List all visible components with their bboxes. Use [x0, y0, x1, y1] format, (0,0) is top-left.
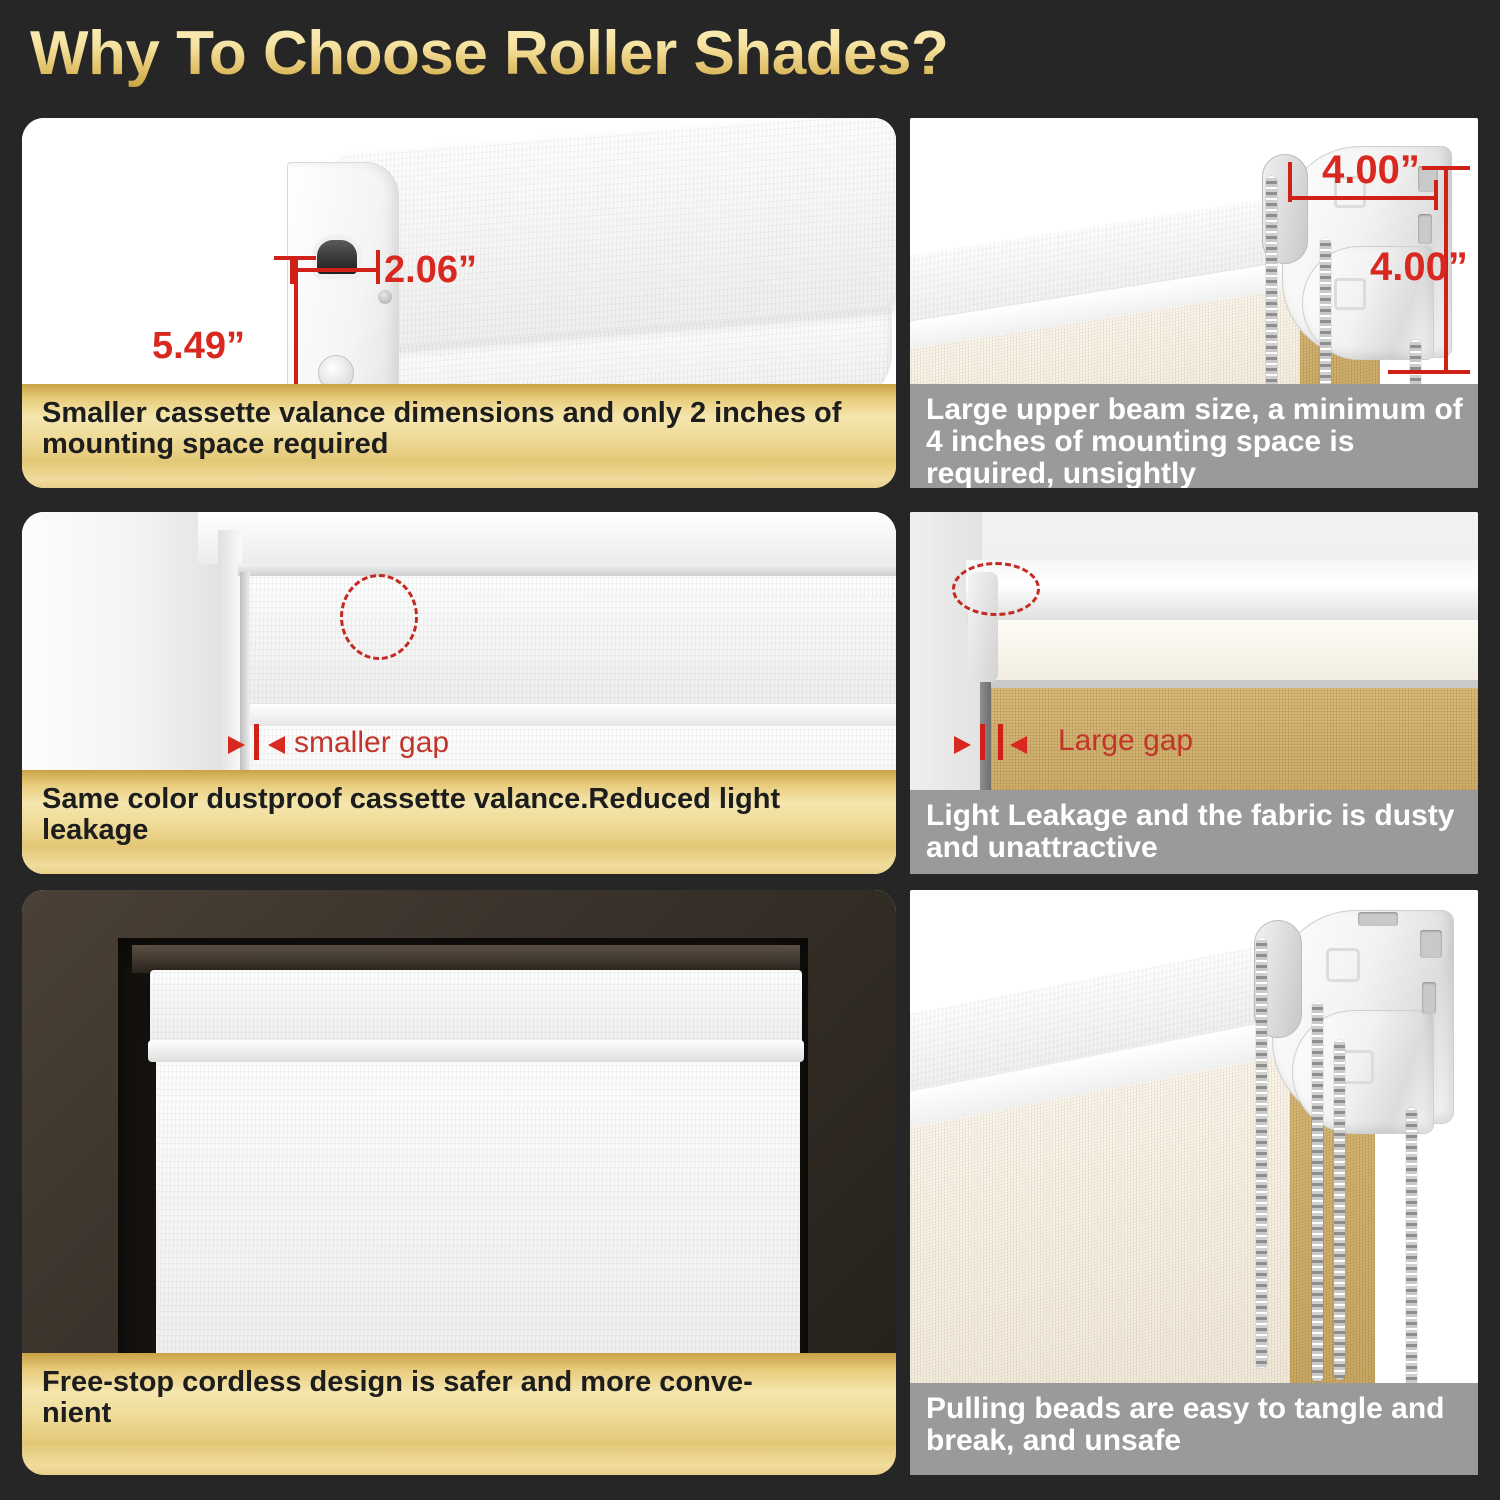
gap-label-large: Large gap — [1058, 724, 1193, 758]
beam-width-tick-right — [1434, 180, 1438, 210]
gap-arrow-right — [268, 736, 285, 754]
window-reveal-top — [132, 945, 800, 973]
gap-label-smaller: smaller gap — [294, 726, 449, 760]
panel-caption-cassette-dimensions: Smaller cassette valance dimensions and … — [22, 384, 896, 488]
beam-height-tick-top — [1422, 166, 1470, 170]
panel-large-upper-beam: 4.00” 4.00” Large upper beam size, a min… — [910, 118, 1478, 488]
bead-chain-middle — [1312, 1002, 1323, 1382]
roller-tube — [966, 560, 1478, 628]
beam-width-tick-left — [1288, 162, 1292, 202]
bracket-slot-mid — [1418, 214, 1432, 244]
tube-shadow-line — [982, 680, 1478, 688]
panel-cassette-dimensions: 2.06” 5.49” Smaller cassette valance dim… — [22, 118, 896, 488]
panel-caption-light-leakage: Light Leakage and the fabric is dusty an… — [910, 790, 1478, 874]
bracket-hook-icon-lower — [1340, 1050, 1374, 1084]
width-dimension-tick-right — [376, 250, 380, 284]
panel-dustproof-valance: smaller gap Same color dustproof cassett… — [22, 512, 896, 874]
panel-cordless-design: Free-stop cordless design is safer and m… — [22, 890, 896, 1475]
shade-fabric-main — [156, 1062, 800, 1372]
panel-caption-large-upper-beam: Large upper beam size, a minimum of 4 in… — [910, 384, 1478, 488]
gap-highlight-circle — [340, 574, 418, 660]
infographic-page: Why To Choose Roller Shades? 2.06” 5.49” — [0, 0, 1500, 1500]
bracket-hook-icon — [1326, 948, 1360, 982]
beam-height-dimension-label: 4.00” — [1370, 245, 1468, 290]
gap-marker-line-left — [980, 724, 985, 760]
gap-marker-line — [254, 724, 259, 760]
height-dimension-tick-top — [274, 256, 316, 260]
window-frame-top — [198, 512, 896, 564]
height-dimension-label: 5.49” — [152, 325, 245, 368]
beam-width-dimension-line — [1288, 196, 1438, 200]
panel-light-leakage: Large gap Light Leakage and the fabric i… — [910, 512, 1478, 874]
caption-line-2: nient — [42, 1398, 878, 1429]
panel-pulling-beads: Pulling beads are easy to tangle and bre… — [910, 890, 1478, 1475]
bracket-hook-icon-lower — [1334, 278, 1366, 310]
panel-caption-pulling-beads: Pulling beads are easy to tangle and bre… — [910, 1383, 1478, 1475]
panel-caption-dustproof-valance: Same color dustproof cassette valance.Re… — [22, 770, 896, 874]
beam-height-tick-bottom — [1388, 370, 1470, 374]
bracket-slot-mid — [1422, 982, 1436, 1014]
beam-width-dimension-label: 4.00” — [1322, 148, 1420, 193]
page-title: Why To Choose Roller Shades? — [30, 18, 948, 89]
bracket-slot-notch — [1358, 912, 1398, 926]
bead-chain-rear — [1406, 1108, 1417, 1388]
width-dimension-line — [290, 268, 380, 272]
cassette-head-rail — [238, 564, 896, 576]
bead-chain-middle-2 — [1334, 1040, 1345, 1380]
shade-divider-rail — [244, 704, 896, 726]
gap-highlight-circle — [952, 562, 1040, 616]
gap-arrow-right — [1010, 736, 1027, 754]
cassette-valance — [150, 970, 802, 1045]
bead-chain-front — [1256, 938, 1267, 1368]
bracket-slot-top — [1420, 930, 1442, 958]
gap-arrow-left — [954, 736, 971, 754]
panel-caption-cordless-design: Free-stop cordless design is safer and m… — [22, 1353, 896, 1475]
fabric-white-band — [982, 620, 1478, 682]
gap-arrow-left — [228, 736, 245, 754]
caption-line-1: Free-stop cordless design is safer and m… — [42, 1367, 878, 1398]
shade-panel-upper — [244, 576, 896, 704]
valance-lip — [148, 1040, 804, 1062]
width-dimension-label: 2.06” — [384, 249, 477, 292]
screw-mid-icon — [378, 290, 392, 304]
gap-marker-line-right — [998, 724, 1003, 760]
